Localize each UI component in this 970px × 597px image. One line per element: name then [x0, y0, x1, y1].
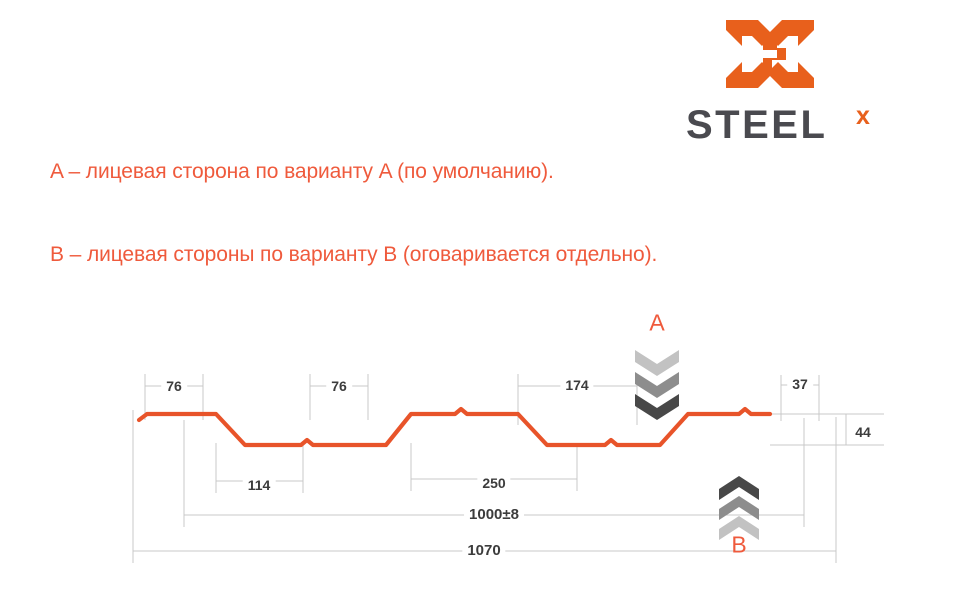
- profile-drawing: 76 76 114 250 174 37 44 1000±8 1070 A B: [0, 295, 970, 585]
- marker-letter-a: A: [649, 312, 664, 335]
- dim-label-rib-spacing: 174: [560, 377, 593, 393]
- dim-label-overall-width: 1070: [462, 543, 505, 559]
- dimension-lines-group: [133, 374, 884, 563]
- dim-label-valley-width: 114: [243, 477, 276, 493]
- marker-letter-b: B: [731, 534, 746, 557]
- dim-label-top-rib-width-left: 76: [161, 378, 187, 394]
- dim-label-profile-height: 44: [850, 424, 876, 440]
- face-variant-b-chevrons-icon: [719, 476, 759, 540]
- caption-variant-a: A – лицевая сторона по варианту A (по ум…: [50, 160, 554, 184]
- profile-section-path: [139, 409, 770, 445]
- dim-label-edge-rib-width: 37: [787, 376, 813, 392]
- steelx-x-mark-icon: [724, 18, 816, 90]
- face-variant-a-chevrons-icon: [635, 350, 679, 420]
- caption-variant-b: B – лицевая стороны по варианту B (огова…: [50, 243, 657, 267]
- steelx-logo: STEEL x: [686, 18, 900, 146]
- dim-label-rib-pitch: 250: [477, 475, 510, 491]
- dim-label-top-rib-width-mid: 76: [326, 378, 352, 394]
- steelx-wordmark: STEEL x: [686, 102, 900, 146]
- dim-label-effective-width: 1000±8: [464, 507, 524, 523]
- wordmark-steel-text: STEEL: [686, 103, 827, 146]
- wordmark-superscript-x: x: [856, 102, 870, 130]
